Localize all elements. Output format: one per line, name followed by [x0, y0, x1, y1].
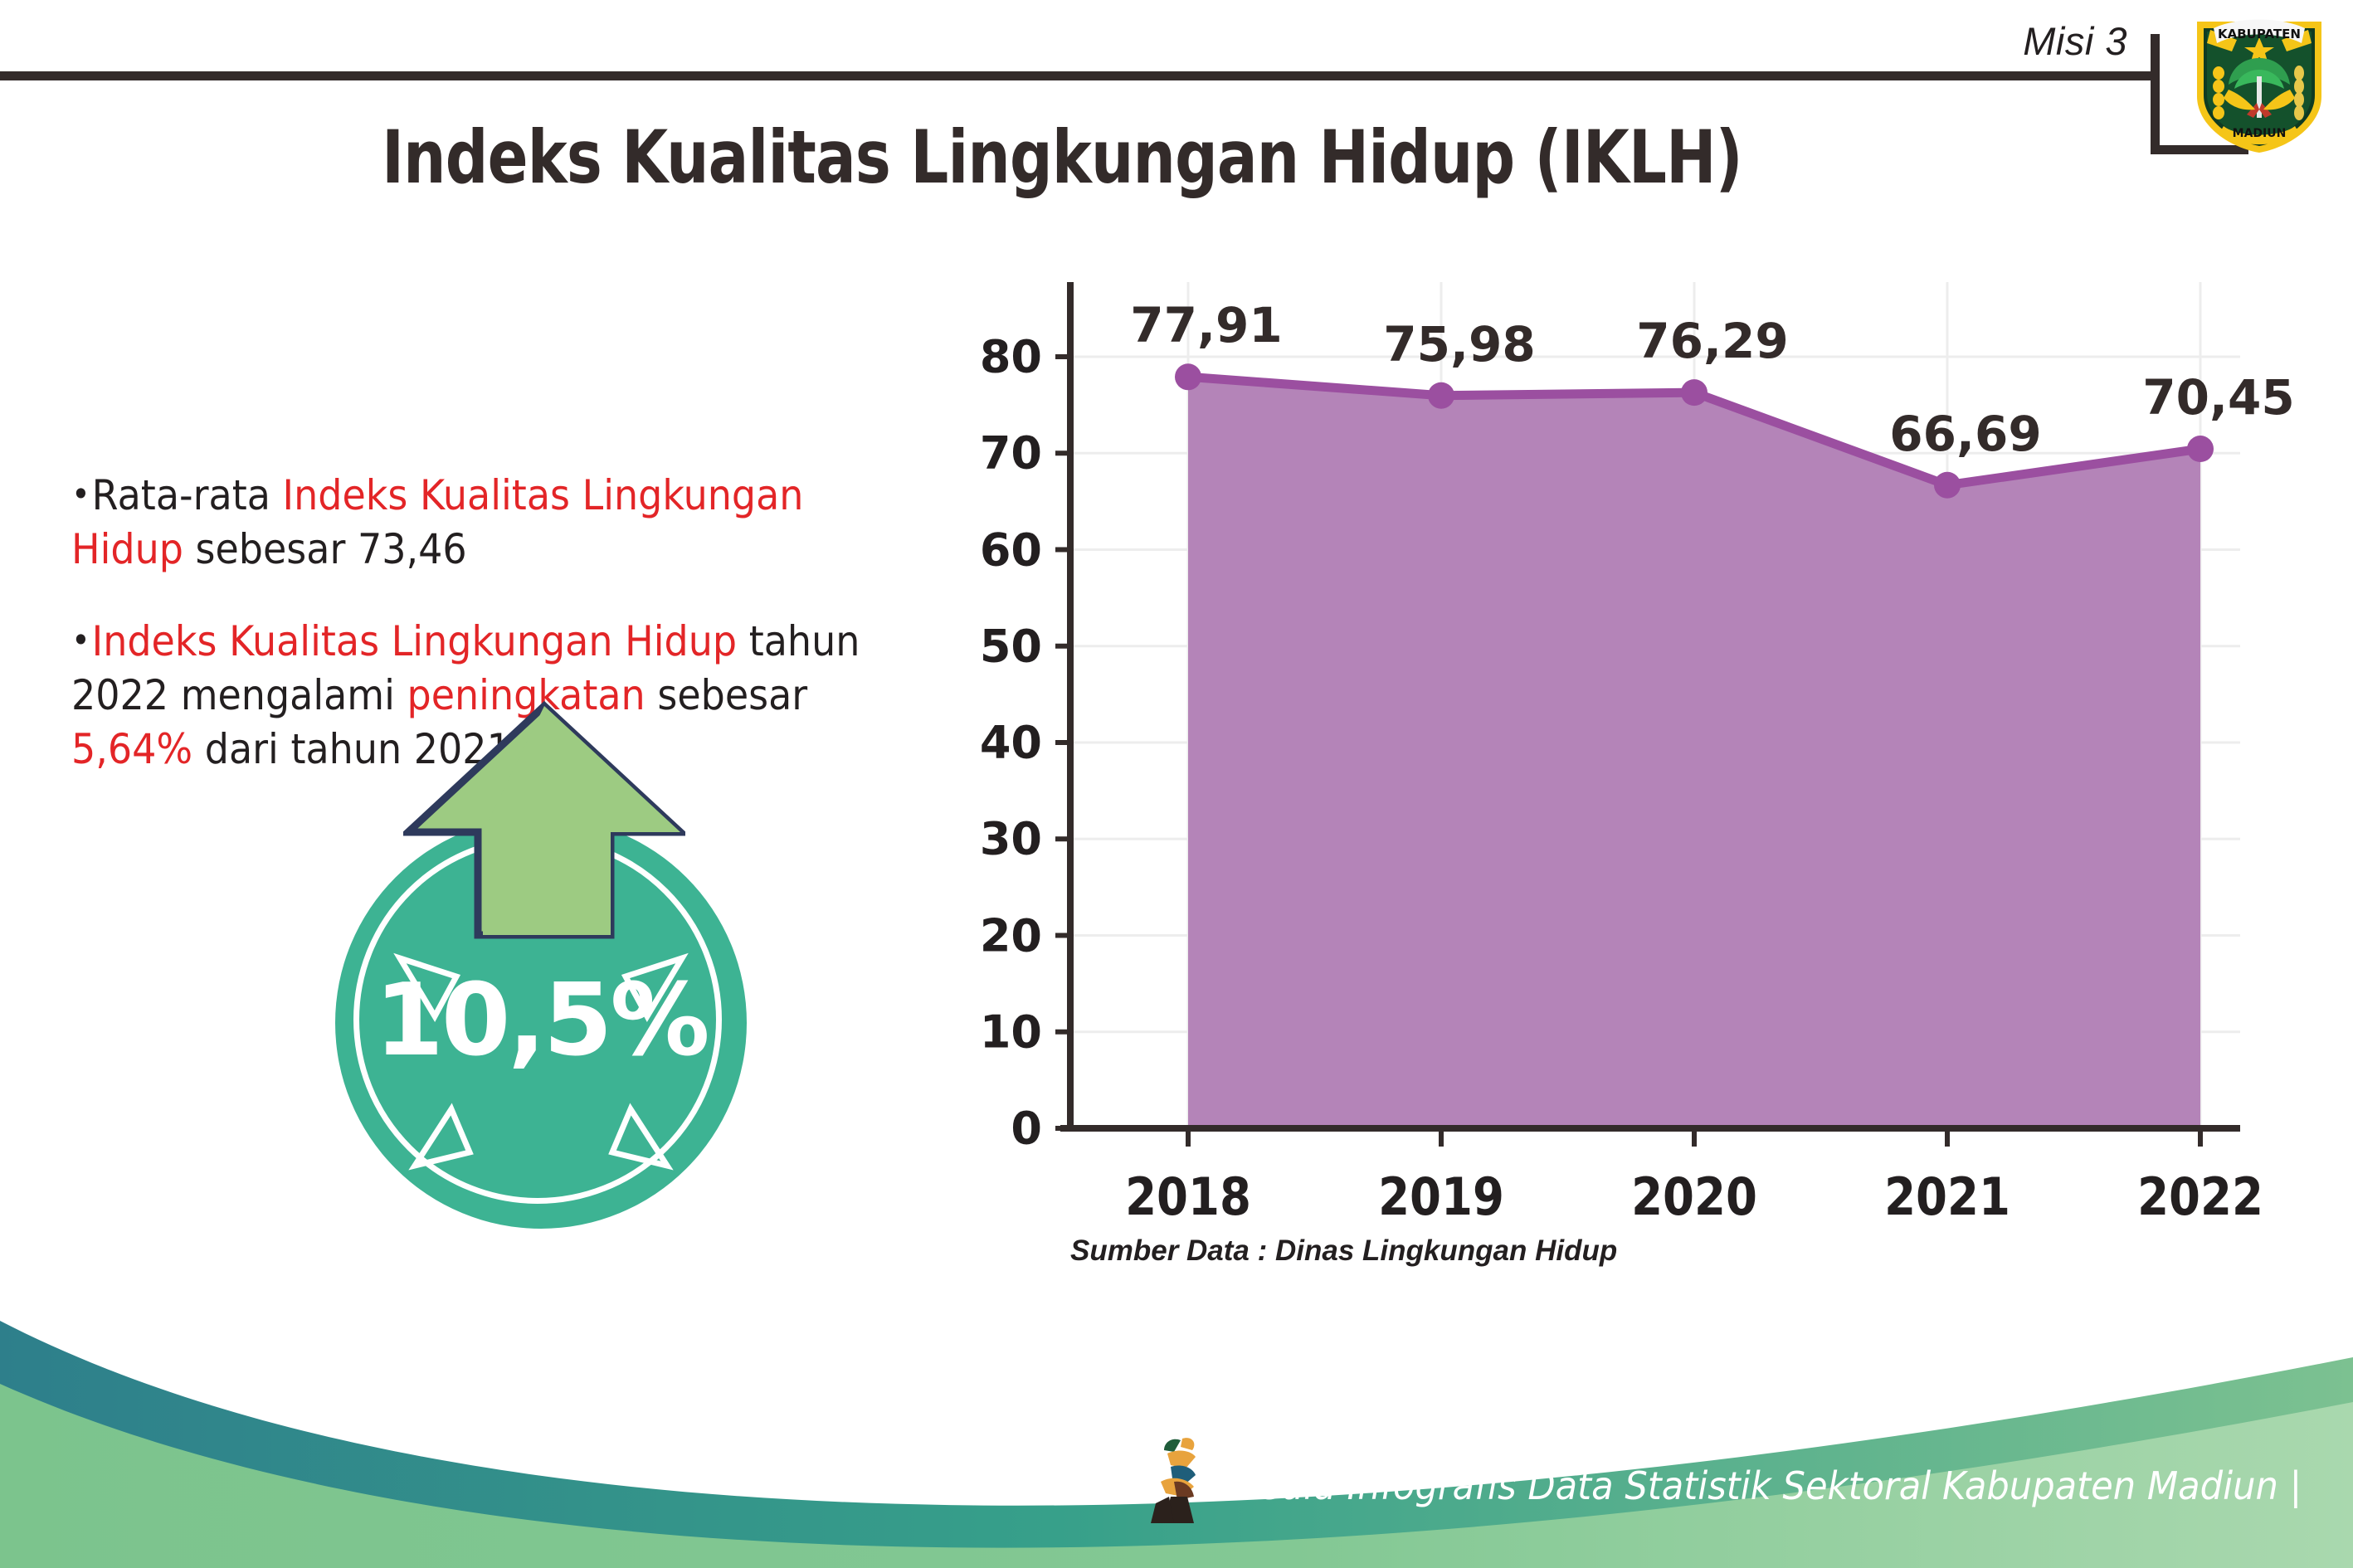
- x-axis-tick-label: 2022: [2137, 1166, 2263, 1227]
- x-axis-tick-label: 2019: [1378, 1166, 1504, 1227]
- data-point-label: 66,69: [1889, 406, 2041, 462]
- footer-waves: [0, 1294, 2353, 1568]
- footer-caption: Media Infografis Data Statistik Sektoral…: [1228, 1463, 2302, 1508]
- data-point-marker: [2187, 436, 2214, 462]
- data-point-label: 75,98: [1383, 316, 1535, 373]
- x-axis-tick-label: 2020: [1631, 1166, 1757, 1227]
- header-divider-rule: [0, 71, 2151, 80]
- x-axis-tick-label: 2018: [1125, 1166, 1251, 1227]
- y-axis-tick-label: 10: [954, 1006, 1042, 1058]
- bullet-dot-icon: •: [71, 620, 90, 660]
- badge-value: 10,5%: [335, 963, 747, 1079]
- crest-bottom-text: MADIUN: [2233, 127, 2287, 140]
- y-axis-tick-label: 60: [954, 523, 1042, 576]
- data-point-marker: [1934, 472, 1961, 499]
- y-axis-tick-label: 0: [954, 1103, 1042, 1155]
- data-point-marker: [1681, 379, 1708, 406]
- crest-top-text: KABUPATEN: [2218, 27, 2301, 41]
- data-point-marker: [1175, 363, 1201, 390]
- list-item: •Rata-rata Indeks Kualitas Lingkungan Hi…: [71, 469, 888, 577]
- header-corner-vertical: [2151, 34, 2160, 154]
- iklh-area-chart: 01020304050607080 20182019202020212022 7…: [954, 274, 2282, 1236]
- y-axis-tick-label: 50: [954, 620, 1042, 672]
- y-axis-tick-label: 80: [954, 331, 1042, 383]
- y-axis-tick-label: 70: [954, 427, 1042, 480]
- increase-badge: 10,5%: [335, 817, 747, 1229]
- highlight-text: 5,64%: [71, 725, 192, 773]
- data-point-label: 76,29: [1636, 313, 1788, 369]
- y-axis-tick-label: 30: [954, 813, 1042, 865]
- chart-area-fill: [1188, 377, 2200, 1128]
- data-point-label: 77,91: [1130, 297, 1282, 353]
- arrow-up-icon: [403, 701, 685, 991]
- mission-label: Misi 3: [2023, 18, 2127, 64]
- page-footer: Media Infografis Data Statistik Sektoral…: [0, 1294, 2353, 1568]
- page-title: Indeks Kualitas Lingkungan Hidup (IKLH): [191, 114, 1932, 200]
- bullet-dot-icon: •: [71, 474, 90, 514]
- y-axis-tick-label: 40: [954, 717, 1042, 769]
- x-axis-tick-label: 2021: [1884, 1166, 2010, 1227]
- chart-source-caption: Sumber Data : Dinas Lingkungan Hidup: [1070, 1234, 1617, 1268]
- chart-canvas: [954, 274, 2282, 1236]
- bullet-text-1: Rata-rata Indeks Kualitas Lingkungan Hid…: [71, 471, 803, 573]
- data-point-marker: [1428, 382, 1454, 409]
- plain-text: Rata-rata: [92, 471, 283, 519]
- plain-text: sebesar 73,46: [183, 525, 467, 573]
- statistics-person-logo-icon: [1149, 1432, 1220, 1525]
- data-point-label: 70,45: [2142, 369, 2294, 426]
- kabupaten-madiun-crest-icon: KABUPATEN MADIUN: [2189, 10, 2330, 156]
- highlight-text: Indeks Kualitas Lingkungan Hidup: [92, 617, 737, 665]
- y-axis-tick-label: 20: [954, 909, 1042, 962]
